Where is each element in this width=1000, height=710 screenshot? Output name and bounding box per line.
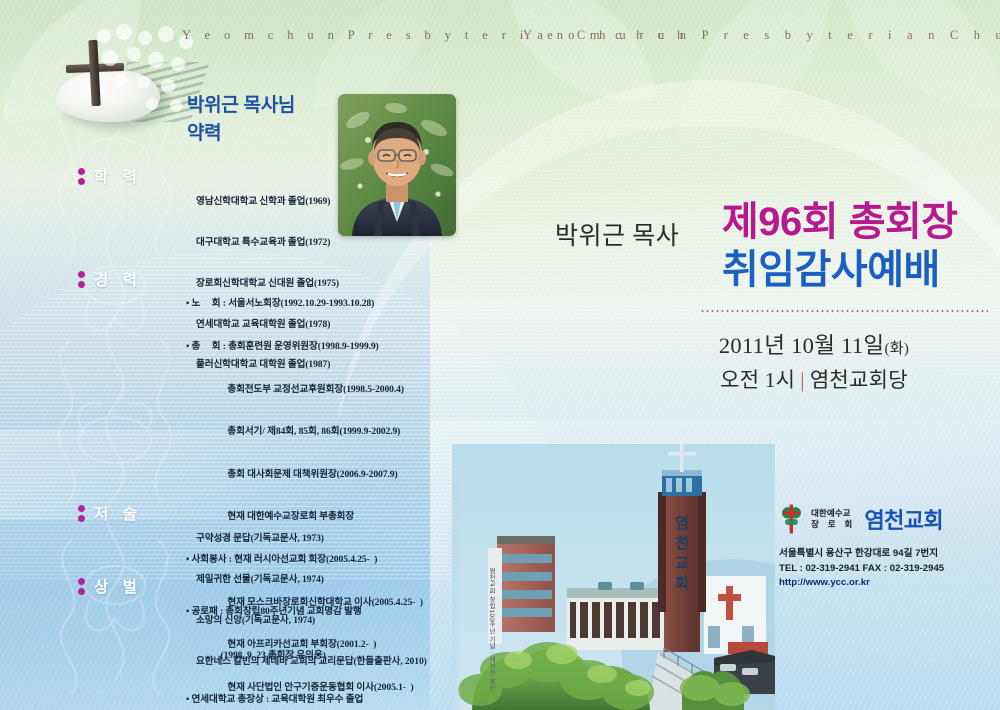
event-date: 2011년 10월 11일 (719, 333, 885, 358)
denomination-line2: 장 로 회 (811, 519, 856, 530)
list-item: • 공로패 : 총회창립80주년기념 교회명감 발행 (186, 605, 435, 620)
list-item: 영남신학대학교 신학과 졸업(1969) (196, 195, 339, 209)
section-label-text: 학 력 (94, 165, 142, 187)
svg-text:천: 천 (675, 534, 689, 552)
bullet-dots-icon (78, 271, 85, 288)
event-venue: 염천교회당 (810, 368, 908, 392)
list-item: 총회 대사회문제 대책위원장(2006.9-2007.9) (186, 468, 423, 482)
event-title: 제96회 총회장 취임감사예배 (722, 198, 958, 294)
portrait-photo (338, 94, 456, 236)
event-time: 오전 1시 (720, 368, 795, 392)
denomination-name: 대한예수교 장 로 회 (811, 508, 856, 530)
svg-text:교: 교 (675, 555, 689, 572)
list-item: 총회전도부 교정선교후원회장(1998.5-2000.4) (186, 383, 423, 397)
section-label-text: 경 력 (94, 268, 142, 290)
leaf-icon-2 (490, 0, 665, 153)
denomination-line1: 대한예수교 (811, 508, 856, 519)
section-label-text: 상 벌 (94, 575, 142, 597)
header-band: Y e o m c h u n P r e s b y t e r i a n … (0, 24, 1000, 46)
profile-name: 박위근 목사님 (187, 92, 295, 120)
church-building-photo: 염 천 교 회 (452, 444, 775, 710)
event-time-row: 오전 1시|염천교회당 (640, 365, 988, 395)
event-datetime: 2011년 10월 11일(화) 오전 1시|염천교회당 (640, 330, 988, 395)
section-label-career: 경 력 (78, 268, 142, 290)
contact-website[interactable]: http://www.ycc.or.kr (779, 576, 944, 591)
svg-text:회: 회 (675, 575, 689, 592)
church-logo-block: 대한예수교 장 로 회 염천교회 (779, 503, 943, 535)
section-label-education: 학 력 (78, 165, 142, 187)
section-label-awards: 상 벌 (78, 575, 142, 597)
svg-text:염: 염 (675, 515, 689, 532)
wordmark-right: Y e o m c h u n P r e s b y t e r i a n … (523, 28, 1000, 43)
list-item: • 노 회 : 서울서노회장(1992.10.29-1993.10.28) (186, 297, 423, 311)
event-weekday: (화) (884, 341, 909, 357)
contact-info: 서울특별시 용산구 한강대로 94길 7번지 TEL : 02-319-2941… (779, 547, 944, 591)
contact-phone: TEL : 02-319-2941 FAX : 02-319-2945 (779, 562, 944, 577)
profile-name-block: 박위근 목사님 약력 (187, 92, 295, 147)
poster-canvas: Y e o m c h u n P r e s b y t e r i a n … (0, 0, 1000, 710)
event-title-line1: 제96회 총회장 (722, 198, 958, 246)
event-honoree: 박위근 목사 (555, 216, 679, 252)
event-date-row: 2011년 10월 11일(화) (640, 330, 988, 365)
bullet-dots-icon (78, 578, 85, 595)
bullet-dots-icon (78, 168, 85, 185)
list-item: 총회서기/ 제84회, 85회, 86회(1999.9-2002.9) (186, 425, 423, 439)
logo-row: 대한예수교 장 로 회 염천교회 (779, 503, 943, 535)
section-label-writings: 저 술 (78, 502, 142, 524)
profile-subtitle: 약력 (187, 120, 295, 148)
bullet-dots-icon (78, 505, 85, 522)
photo-vertical-caption: 염천교회 창립100주년 기념 : 새성전 봉헌 (487, 568, 496, 691)
list-item: 구약성경 문답(기독교문사, 1973) (196, 532, 427, 546)
list-item: • 총 회 : 총회훈련원 운영위원장(1998.9-1999.9) (186, 340, 423, 354)
presbyterian-cross-logo-icon (779, 504, 804, 534)
event-title-line2: 취임감사예배 (722, 246, 958, 294)
datetime-separator: | (795, 368, 810, 392)
awards-list: • 공로패 : 총회창립80주년기념 교회명감 발행 (1998. 9. 23 … (186, 576, 435, 710)
leaf-icon-4 (820, 0, 1000, 145)
contact-address: 서울특별시 용산구 한강대로 94길 7번지 (779, 547, 944, 562)
list-item: (1998. 9. 23 총회장 유의웅) (186, 649, 435, 664)
list-item: 대구대학교 특수교육과 졸업(1972) (196, 236, 339, 250)
section-label-text: 저 술 (94, 502, 142, 524)
list-item: • 연세대학교 총장상 : 교육대학원 최우수 졸업 (186, 693, 435, 708)
dotted-divider (700, 310, 988, 312)
church-name: 염천교회 (865, 503, 944, 535)
